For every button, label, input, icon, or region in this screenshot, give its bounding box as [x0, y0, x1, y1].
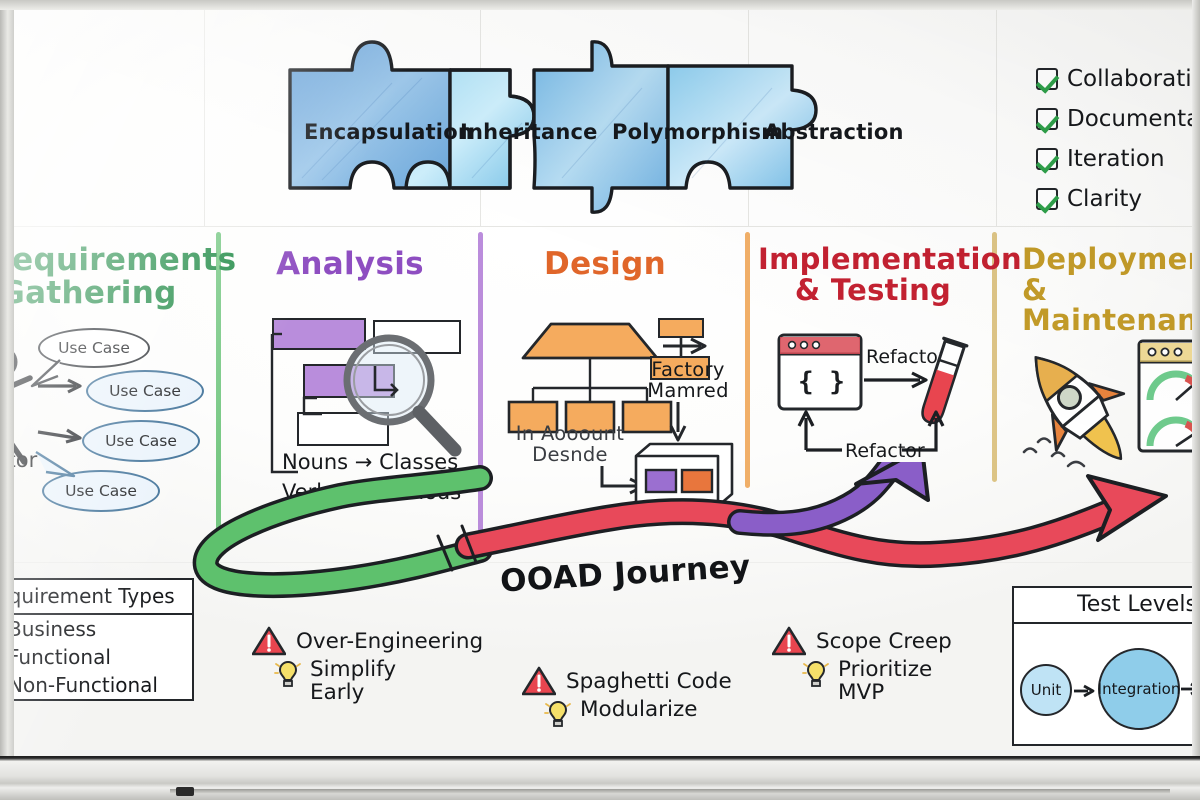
phase-title-design: Design: [515, 248, 695, 281]
phase-title-implementation: Implementation & Testing: [758, 244, 988, 305]
checklist-item-collaboration[interactable]: Collaboration: [1036, 66, 1200, 92]
warning-triangle-icon: [772, 626, 806, 656]
checklist-label: Documentation: [1067, 106, 1200, 132]
faint-guide-line: [996, 0, 997, 226]
legend-title: Requirement Types: [0, 580, 192, 615]
puzzle-piece-label-2: Polymorphism: [612, 120, 783, 144]
legend-item-non-functional[interactable]: Non-Functional: [0, 671, 192, 699]
warning-triangle-icon: [252, 626, 286, 656]
pitfall-tip-label: Prioritize MVP: [838, 658, 932, 704]
oop-pillars-puzzle: Encapsulation Inheritance Polymorphism A…: [272, 28, 932, 223]
design-note-label: In Aooount Desnde: [500, 424, 640, 465]
pitfall-scope-creep: Scope Creep Prioritize MVP: [772, 626, 952, 704]
design-pattern-label: Factory Mamred: [638, 360, 738, 401]
test-level-arrow: [1073, 682, 1099, 702]
checklist-item-iteration[interactable]: Iteration: [1036, 146, 1165, 172]
pitfall-over-engineering: Over-Engineering Simplify Early: [252, 626, 483, 704]
legend-item-functional[interactable]: Functional: [0, 643, 192, 671]
puzzle-piece-label-1: Inheritance: [460, 120, 598, 144]
checklist-item-clarity[interactable]: Clarity: [1036, 186, 1142, 212]
design-pattern-link: [658, 336, 718, 358]
checkbox-icon[interactable]: [1036, 188, 1058, 210]
pitfall-tip-label: Modularize: [580, 698, 697, 721]
pitfall-tip-label: Simplify Early: [310, 658, 396, 704]
use-case-oval-2[interactable]: Use Case: [86, 370, 204, 412]
checkbox-icon[interactable]: [1036, 68, 1058, 90]
puzzle-piece-label-3: Abstraction: [764, 120, 904, 144]
phase-divider-orange: [745, 232, 750, 488]
svg-text:{ }: { }: [798, 367, 845, 397]
warning-triangle-icon: [522, 666, 556, 696]
pitfall-warning-label: Scope Creep: [816, 629, 952, 654]
checkbox-icon[interactable]: [1036, 108, 1058, 130]
legend-item-business[interactable]: Business: [0, 615, 192, 643]
test-level-unit[interactable]: Unit: [1020, 664, 1072, 716]
board-edge-left: [0, 0, 14, 762]
use-case-oval-3[interactable]: Use Case: [82, 420, 200, 462]
phase-title-analysis: Analysis: [255, 248, 445, 281]
test-level-integration[interactable]: Integration: [1098, 648, 1180, 730]
legend-label: Functional: [8, 645, 111, 669]
whiteboard: Encapsulation Inheritance Polymorphism A…: [0, 0, 1200, 800]
code-window-icon: { }: [776, 332, 866, 412]
actor-to-usecase-arrows: [36, 372, 96, 472]
checklist-item-documentation[interactable]: Documentation: [1036, 106, 1200, 132]
requirement-types-legend: Requirement Types Business Functional N: [0, 578, 194, 701]
legend-label: Business: [8, 617, 96, 641]
checklist-label: Clarity: [1067, 186, 1142, 212]
faint-guide-line: [0, 226, 1200, 227]
tray-clip: [176, 787, 194, 796]
pitfall-warning-label: Over-Engineering: [296, 629, 483, 654]
legend-label: Non-Functional: [8, 673, 158, 697]
board-edge-right: [1192, 0, 1200, 762]
magnifying-glass-icon: [335, 332, 475, 462]
pitfall-warning-label: Spaghetti Code: [566, 669, 732, 694]
test-levels-title: Test Levels: [1014, 588, 1200, 624]
dashboard-icon: [1136, 338, 1200, 458]
checkbox-icon[interactable]: [1036, 148, 1058, 170]
checklist-label: Collaboration: [1067, 66, 1200, 92]
lightbulb-icon: [274, 658, 302, 690]
rocket-icon: [1012, 330, 1152, 480]
lightbulb-icon: [544, 698, 572, 730]
pitfall-spaghetti-code: Spaghetti Code Modularize: [522, 666, 732, 730]
checklist-label: Iteration: [1067, 146, 1165, 172]
puzzle-piece-label-0: Encapsulation: [304, 120, 473, 144]
lightbulb-icon: [802, 658, 830, 690]
phase-title-requirements: Requirements Gathering: [0, 244, 188, 310]
faint-guide-line: [204, 0, 205, 226]
refactor-label-bottom: Refactor: [845, 440, 925, 462]
design-pattern-box-top: [658, 318, 704, 338]
board-edge-top: [0, 0, 1200, 10]
phase-title-deployment: Deployment & Maintenance: [1022, 244, 1200, 336]
